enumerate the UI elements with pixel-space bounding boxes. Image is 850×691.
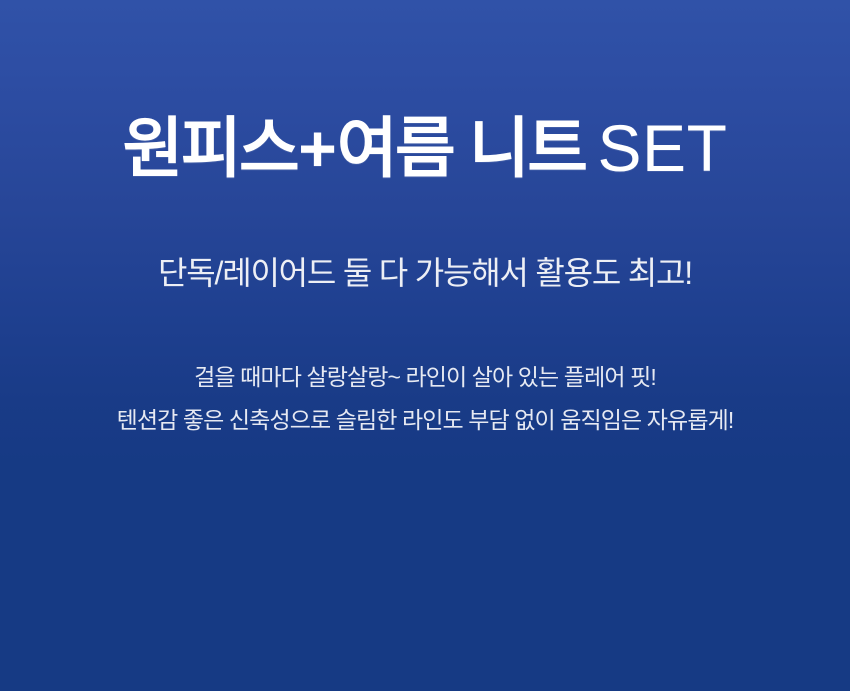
body-line-2: 텐션감 좋은 신축성으로 슬림한 라인도 부담 없이 움직임은 자유롭게! <box>0 399 850 442</box>
headline: 원피스+여름 니트SET <box>0 103 850 193</box>
body-line-1: 걸을 때마다 살랑살랑~ 라인이 살아 있는 플레어 핏! <box>0 356 850 399</box>
subtitle: 단독/레이어드 둘 다 가능해서 활용도 최고! <box>0 249 850 297</box>
headline-latin-set: SET <box>586 111 728 185</box>
body-copy: 걸을 때마다 살랑살랑~ 라인이 살아 있는 플레어 핏! 텐션감 좋은 신축성… <box>0 356 850 442</box>
headline-korean-secondary: 여름 니트 <box>337 111 586 185</box>
headline-plus-symbol: + <box>297 111 337 185</box>
promo-banner: 원피스+여름 니트SET 단독/레이어드 둘 다 가능해서 활용도 최고! 걸을… <box>0 0 850 691</box>
headline-korean-primary: 원피스 <box>123 111 298 185</box>
